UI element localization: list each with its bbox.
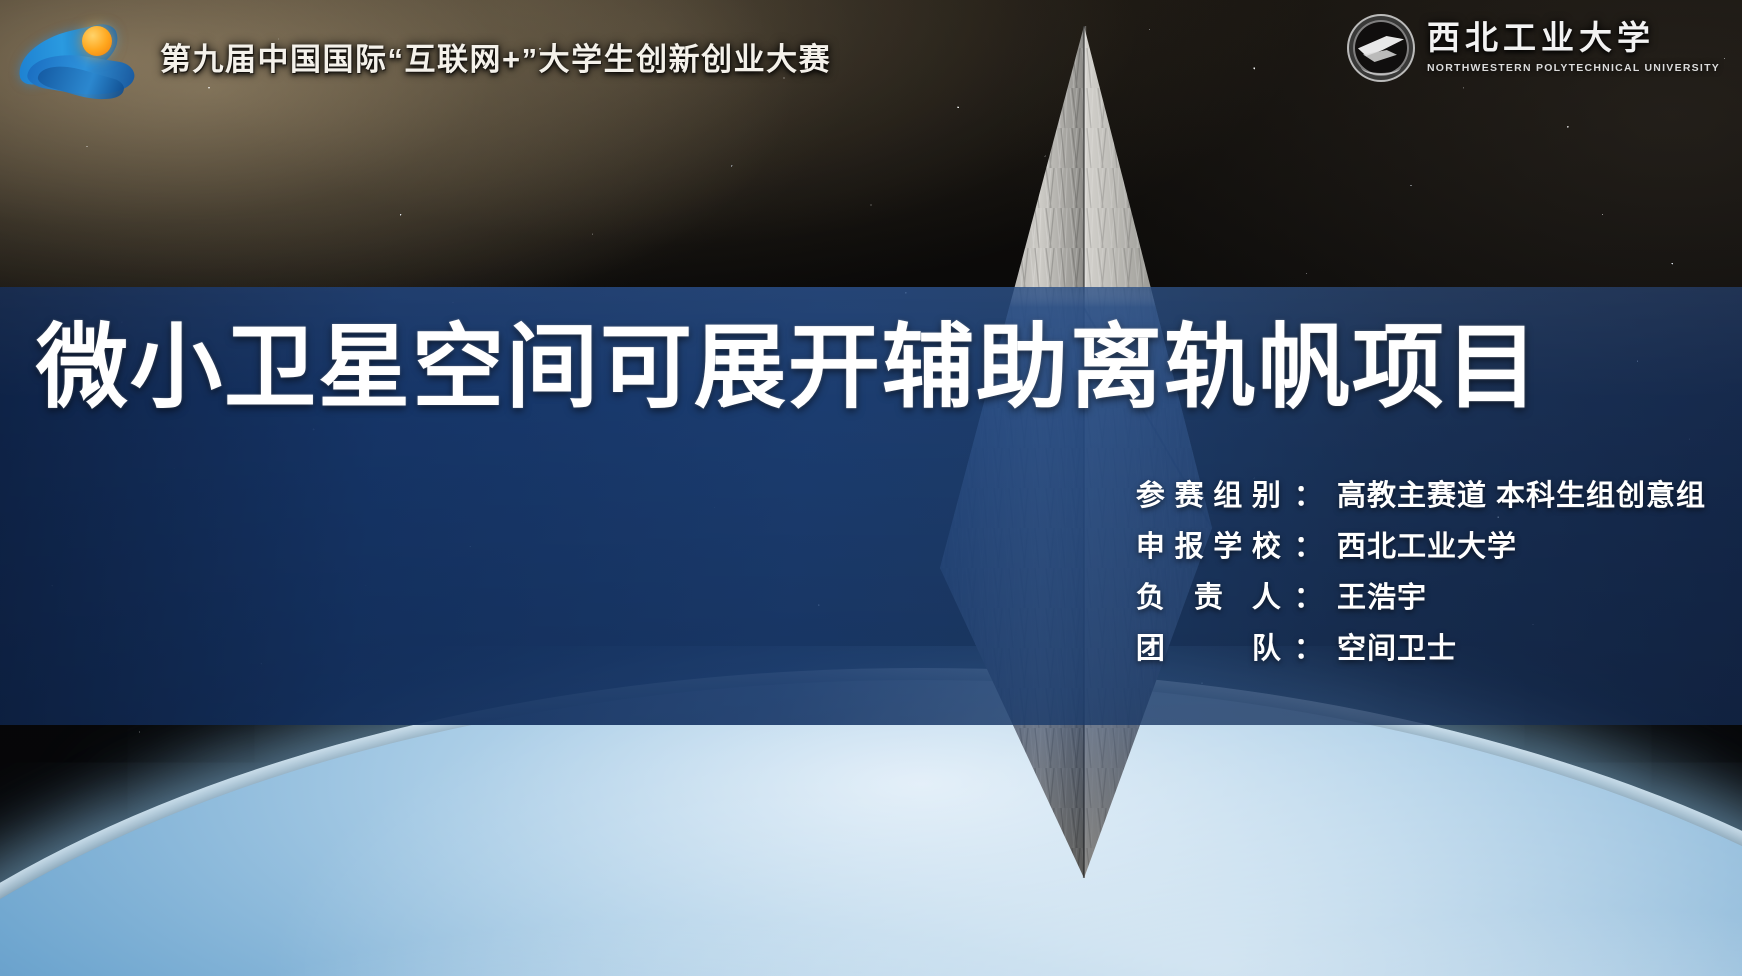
info-colon: ： xyxy=(1294,472,1323,514)
info-label: 申报学校 xyxy=(1136,523,1288,565)
title-slide: 第九届中国国际“互联网+”大学生创新创业大赛 西北工业大学 NORTHWESTE… xyxy=(0,0,1742,976)
info-colon: ： xyxy=(1294,625,1323,667)
project-info-block: 参赛组别 ： 高教主赛道 本科生组创意组 申报学校 ： 西北工业大学 负责人 ：… xyxy=(1136,472,1706,667)
info-row: 团队 ： 空间卫士 xyxy=(1136,625,1706,667)
info-row: 负责人 ： 王浩宇 xyxy=(1136,574,1706,616)
competition-header-bar: 第九届中国国际“互联网+”大学生创新创业大赛 xyxy=(0,0,1742,112)
page-title: 微小卫星空间可展开辅助离轨帆项目 xyxy=(36,322,1540,414)
info-colon: ： xyxy=(1294,574,1323,616)
info-label: 团队 xyxy=(1136,625,1288,667)
info-value: 空间卫士 xyxy=(1337,625,1457,667)
info-value: 高教主赛道 本科生组创意组 xyxy=(1337,472,1706,514)
competition-title: 第九届中国国际“互联网+”大学生创新创业大赛 xyxy=(160,34,831,79)
info-row: 申报学校 ： 西北工业大学 xyxy=(1136,523,1706,565)
info-label: 负责人 xyxy=(1136,574,1288,616)
info-value: 西北工业大学 xyxy=(1337,523,1517,565)
info-label: 参赛组别 xyxy=(1136,472,1288,514)
logo-sun-icon xyxy=(82,26,112,56)
info-value: 王浩宇 xyxy=(1337,574,1427,616)
info-row: 参赛组别 ： 高教主赛道 本科生组创意组 xyxy=(1136,472,1706,514)
internet-plus-competition-logo-icon xyxy=(12,4,138,108)
info-colon: ： xyxy=(1294,523,1323,565)
